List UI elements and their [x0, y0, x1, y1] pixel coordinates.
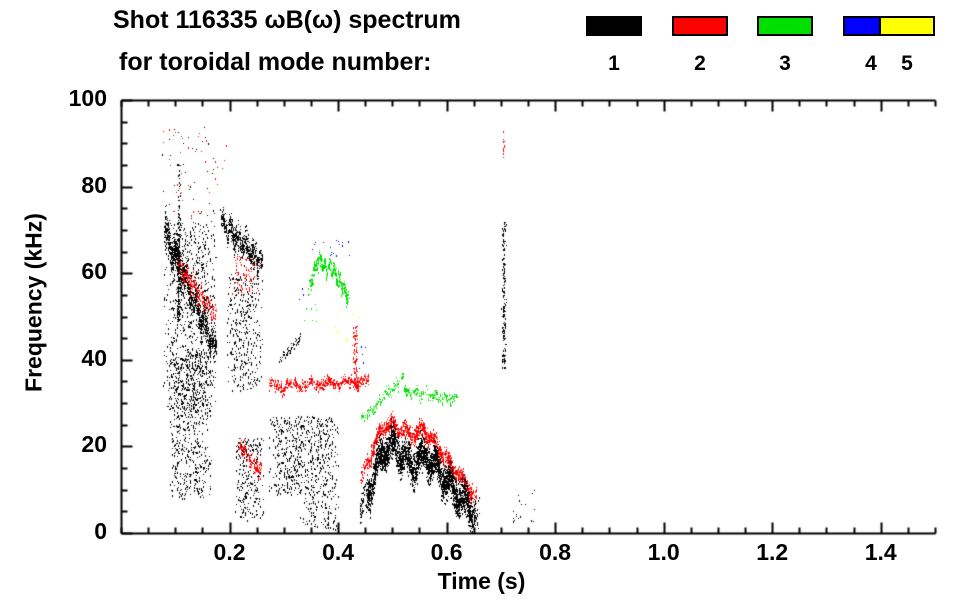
x-tick-label-1.2: 1.2: [737, 539, 807, 566]
y-tick-label-80: 80: [37, 172, 107, 199]
spectrogram-figure: Shot 116335 ωB(ω) spectrum for toroidal …: [0, 0, 963, 615]
x-tick-label-0.4: 0.4: [303, 539, 373, 566]
y-tick-label-0: 0: [37, 518, 107, 545]
spectrogram-plot-canvas: [0, 0, 963, 615]
y-tick-label-100: 100: [37, 85, 107, 112]
x-tick-label-0.8: 0.8: [520, 539, 590, 566]
x-axis-label: Time (s): [0, 568, 963, 595]
y-tick-label-60: 60: [37, 258, 107, 285]
y-axis-label: Frequency (kHz): [21, 183, 48, 423]
x-tick-label-0.6: 0.6: [412, 539, 482, 566]
y-tick-label-40: 40: [37, 345, 107, 372]
x-tick-label-1.4: 1.4: [846, 539, 916, 566]
x-tick-label-1.0: 1.0: [629, 539, 699, 566]
y-tick-label-20: 20: [37, 431, 107, 458]
x-tick-label-0.2: 0.2: [195, 539, 265, 566]
